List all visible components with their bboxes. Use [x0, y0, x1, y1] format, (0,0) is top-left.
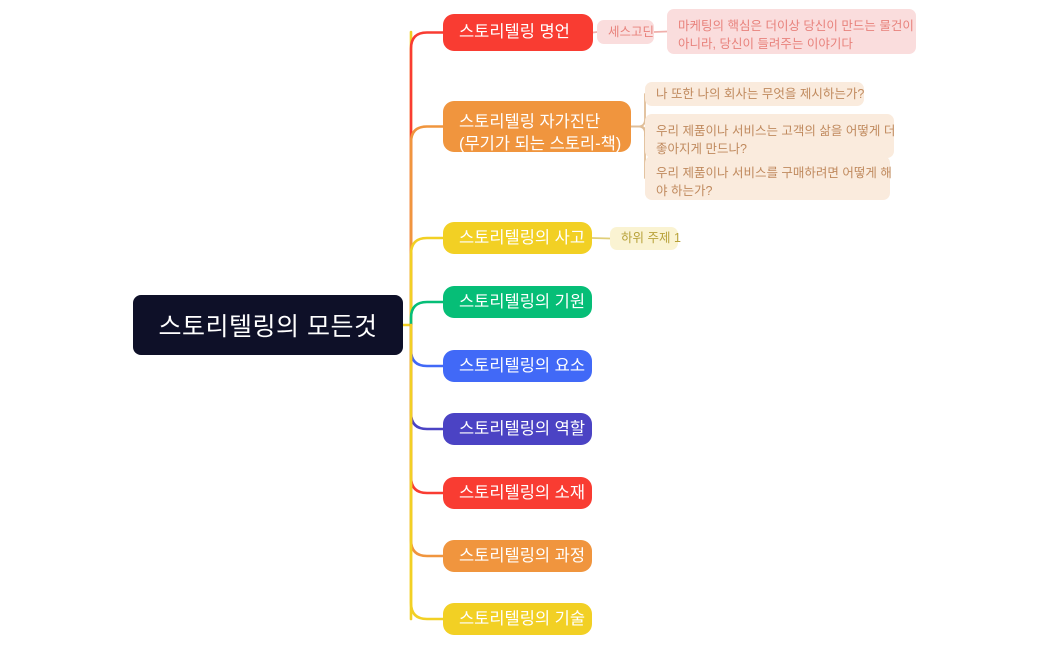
topic-node-6[interactable]: 스토리텔링의 역할 — [443, 413, 592, 445]
topic-node-4[interactable]: 스토리텔링의 기원 — [443, 286, 592, 318]
subtopic-node-2-1[interactable]: 나 또한 나의 회사는 무엇을 제시하는가? — [645, 82, 864, 106]
topic-node-5[interactable]: 스토리텔링의 요소 — [443, 350, 592, 382]
topic-node-1[interactable]: 스토리텔링 명언 — [443, 14, 593, 51]
topic-node-7[interactable]: 스토리텔링의 소재 — [443, 477, 592, 509]
topic-node-8[interactable]: 스토리텔링의 과정 — [443, 540, 592, 572]
subtopic-node-1-1-1[interactable]: 마케팅의 핵심은 더이상 당신이 만드는 물건이 아니라, 당신이 들려주는 이… — [667, 9, 916, 54]
root-node[interactable]: 스토리텔링의 모든것 — [133, 295, 403, 355]
subtopic-node-2-2[interactable]: 우리 제품이나 서비스는 고객의 삶을 어떻게 더 좋아지게 만드나? — [645, 114, 894, 158]
subtopic-node-2-3[interactable]: 우리 제품이나 서비스를 구매하려면 어떻게 해 야 하는가? — [645, 156, 890, 200]
subtopic-node-3-1[interactable]: 하위 주제 1 — [610, 227, 678, 250]
topic-node-3[interactable]: 스토리텔링의 사고 — [443, 222, 592, 254]
topic-node-2[interactable]: 스토리텔링 자가진단 (무기가 되는 스토리-책) — [443, 101, 631, 152]
mindmap-canvas: 스토리텔링의 모든것 스토리텔링 명언세스고딘마케팅의 핵심은 더이상 당신이 … — [0, 0, 1049, 650]
subtopic-node-1-1[interactable]: 세스고딘 — [597, 20, 654, 44]
topic-node-9[interactable]: 스토리텔링의 기술 — [443, 603, 592, 635]
